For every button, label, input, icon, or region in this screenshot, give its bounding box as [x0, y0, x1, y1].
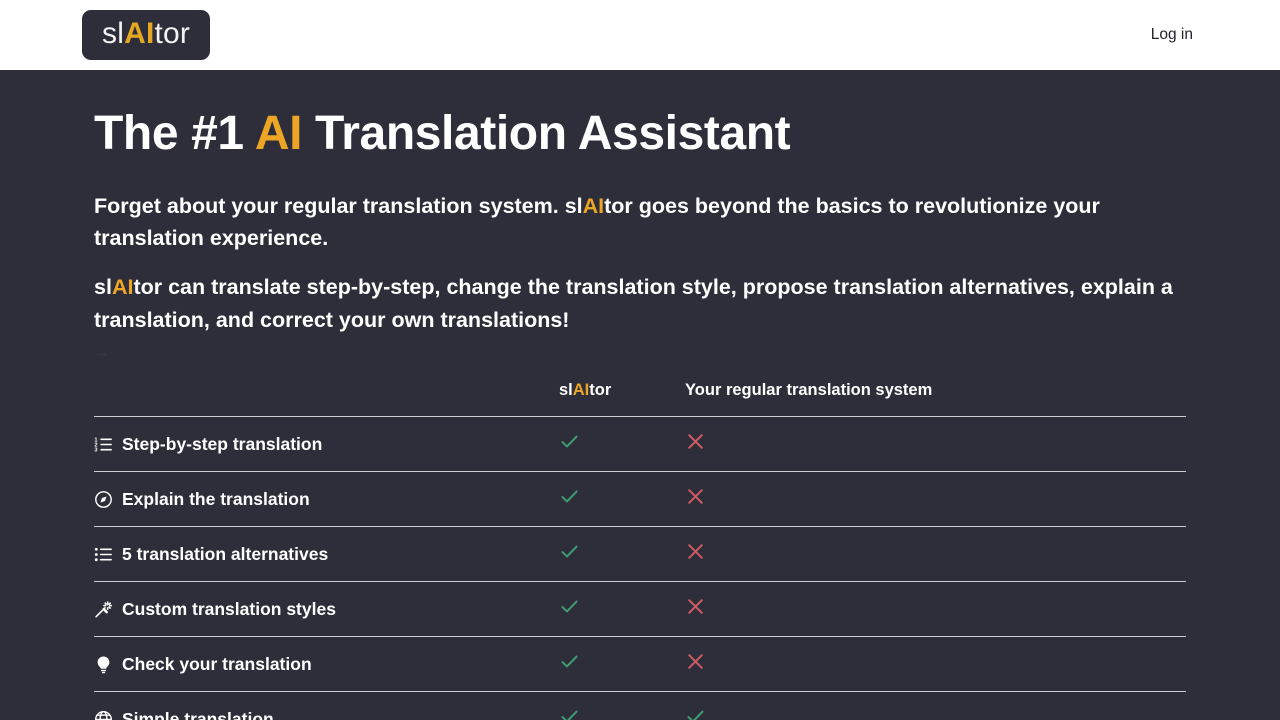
- check-icon: [685, 706, 706, 720]
- cross-icon: [685, 596, 706, 617]
- slaitor-support-cell: [559, 637, 685, 692]
- page-title-highlight: AI: [255, 107, 302, 160]
- check-icon: [559, 596, 580, 617]
- page-title-after: Translation Assistant: [302, 107, 790, 160]
- magic-wand-icon: [94, 600, 113, 619]
- logo-suffix: tor: [154, 17, 190, 50]
- feature-cell: 123Step-by-step translation: [94, 417, 559, 472]
- page-title: The #1 AI Translation Assistant: [94, 106, 1186, 163]
- feature-label: Explain the translation: [122, 490, 310, 509]
- comparison-table: slAItor Your regular translation system …: [94, 375, 1186, 720]
- hero-paragraph-1-highlight: AI: [583, 194, 605, 218]
- check-icon: [559, 541, 580, 562]
- table-header-row: slAItor Your regular translation system: [94, 375, 1186, 417]
- login-link[interactable]: Log in: [1149, 22, 1195, 48]
- logo-prefix: sl: [102, 17, 124, 50]
- feature-label: Simple translation: [122, 710, 274, 720]
- column-header-feature: [94, 375, 559, 417]
- column-header-slaitor-highlight: AI: [573, 381, 590, 399]
- table-row: Custom translation styles: [94, 582, 1186, 637]
- ordered-list-icon: 123: [94, 435, 113, 454]
- comparison-table-body: 123Step-by-step translationExplain the t…: [94, 417, 1186, 720]
- feature-cell: Explain the translation: [94, 472, 559, 527]
- check-icon: [559, 651, 580, 672]
- page-title-before: The #1: [94, 107, 255, 160]
- hero-paragraph-2-before: sl: [94, 275, 112, 299]
- feature-cell: Check your translation: [94, 637, 559, 692]
- globe-icon: [94, 710, 113, 720]
- top-bar: slAItor Log in: [0, 0, 1280, 70]
- slaitor-support-cell: [559, 692, 685, 720]
- hero-paragraph-2-highlight: AI: [112, 275, 134, 299]
- lightbulb-icon: [94, 655, 113, 674]
- slaitor-support-cell: [559, 527, 685, 582]
- regular-support-cell: [685, 692, 1186, 720]
- regular-support-cell: [685, 637, 1186, 692]
- table-row: Check your translation: [94, 637, 1186, 692]
- slaitor-support-cell: [559, 417, 685, 472]
- table-row: 123Step-by-step translation: [94, 417, 1186, 472]
- hero-paragraph-1-before: Forget about your regular translation sy…: [94, 194, 583, 218]
- logo-highlight: AI: [124, 17, 154, 50]
- check-icon: [559, 431, 580, 452]
- hero-paragraph-2-after: tor can translate step-by-step, change t…: [94, 275, 1173, 332]
- column-header-slaitor-prefix: sl: [559, 381, 573, 399]
- regular-support-cell: [685, 417, 1186, 472]
- feature-label: Step-by-step translation: [122, 435, 322, 454]
- column-header-slaitor: slAItor: [559, 375, 685, 417]
- check-icon: [559, 706, 580, 720]
- cross-icon: [685, 486, 706, 507]
- feature-cell: Custom translation styles: [94, 582, 559, 637]
- feature-label: 5 translation alternatives: [122, 545, 328, 564]
- hero-section: The #1 AI Translation Assistant Forget a…: [0, 106, 1280, 720]
- cross-icon: [685, 541, 706, 562]
- regular-support-cell: [685, 472, 1186, 527]
- compass-icon: [94, 490, 113, 509]
- column-header-slaitor-suffix: tor: [589, 381, 611, 399]
- table-row: 5 translation alternatives: [94, 527, 1186, 582]
- svg-text:3: 3: [94, 448, 97, 454]
- regular-support-cell: [685, 527, 1186, 582]
- slaitor-support-cell: [559, 582, 685, 637]
- feature-cell: 5 translation alternatives: [94, 527, 559, 582]
- table-row: Explain the translation: [94, 472, 1186, 527]
- hero-paragraph-1: Forget about your regular translation sy…: [94, 190, 1184, 255]
- hero-paragraph-2: slAItor can translate step-by-step, chan…: [94, 271, 1184, 336]
- cross-icon: [685, 431, 706, 452]
- check-icon: [559, 486, 580, 507]
- feature-cell: Simple translation: [94, 692, 559, 720]
- feature-label: Check your translation: [122, 655, 312, 674]
- feature-label: Custom translation styles: [122, 600, 336, 619]
- comparison-table-head: slAItor Your regular translation system: [94, 375, 1186, 417]
- regular-support-cell: [685, 582, 1186, 637]
- bullet-list-icon: [94, 545, 113, 564]
- column-header-regular: Your regular translation system: [685, 375, 1186, 417]
- app-logo[interactable]: slAItor: [82, 10, 210, 60]
- faint-arrow-marker: →: [94, 345, 1186, 361]
- slaitor-support-cell: [559, 472, 685, 527]
- cross-icon: [685, 651, 706, 672]
- table-row: Simple translation: [94, 692, 1186, 720]
